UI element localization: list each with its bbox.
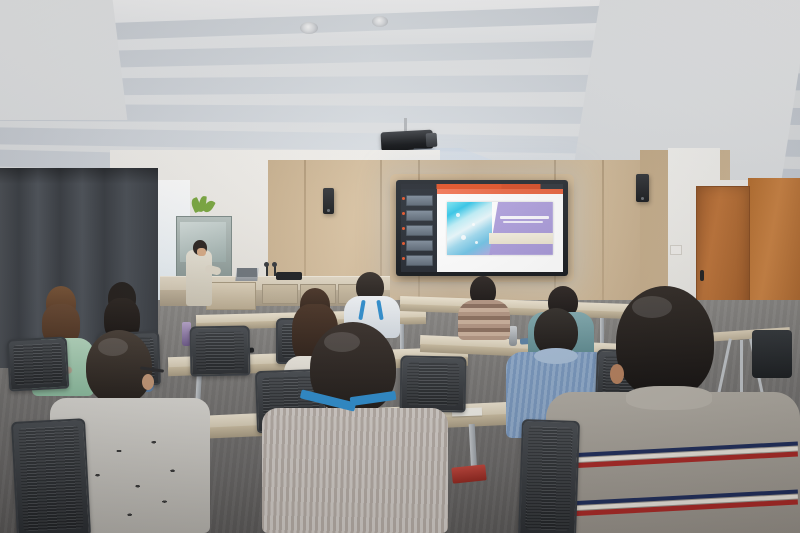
slide-title-panel <box>489 202 553 255</box>
slide-subtitle-text <box>503 221 543 223</box>
presentation-display[interactable] <box>401 184 563 272</box>
projector-lens-icon <box>426 133 438 148</box>
door-handle-icon[interactable] <box>700 270 704 281</box>
water-bottle-gray[interactable] <box>509 326 517 346</box>
downlight <box>372 16 388 27</box>
chair[interactable] <box>7 336 70 391</box>
slide-bottom-band <box>489 233 553 245</box>
microphone-head-icon <box>272 262 277 267</box>
presenter-torso <box>186 250 212 306</box>
slide-thumbnail[interactable] <box>406 255 433 266</box>
microphone-head-icon <box>264 262 269 267</box>
slide-title-text <box>500 216 549 219</box>
potted-plant <box>190 196 216 220</box>
slide-thumbnail[interactable] <box>406 195 433 206</box>
chair[interactable] <box>11 418 91 533</box>
right-wall-speaker <box>636 174 649 202</box>
slide-thumbnail-pane[interactable] <box>401 189 437 272</box>
chair[interactable] <box>518 419 580 533</box>
meeting-room-photo <box>0 0 800 533</box>
attendee-ear <box>142 374 154 390</box>
slide-thumbnail[interactable] <box>406 240 433 251</box>
ceiling-soffit-left <box>0 0 127 120</box>
laptop-screen <box>237 268 257 277</box>
presenter-face <box>197 248 206 256</box>
av-equipment-box <box>276 272 302 280</box>
attendee-ear <box>610 364 624 384</box>
stacked-chair <box>752 330 792 378</box>
curtain-shadow <box>0 168 158 184</box>
downlight <box>300 22 318 34</box>
polo-collar <box>626 386 712 410</box>
slide-photo <box>447 202 493 255</box>
slide-thumbnail[interactable] <box>406 210 433 221</box>
chair[interactable] <box>400 355 467 412</box>
attendee-torso <box>458 300 510 340</box>
counter-drawer <box>262 284 298 304</box>
microphone-stem <box>274 266 276 276</box>
slide-thumbnail[interactable] <box>406 225 433 236</box>
left-wall-speaker <box>323 188 334 214</box>
current-slide <box>447 202 553 255</box>
light-switch-single[interactable] <box>670 245 682 255</box>
attendee-torso <box>262 408 448 533</box>
chair[interactable] <box>190 325 251 376</box>
shirt-collar <box>534 348 578 364</box>
slide-canvas[interactable] <box>437 194 563 272</box>
microphone-stem <box>266 266 268 276</box>
desk-leg <box>600 318 604 344</box>
podium <box>206 282 256 310</box>
